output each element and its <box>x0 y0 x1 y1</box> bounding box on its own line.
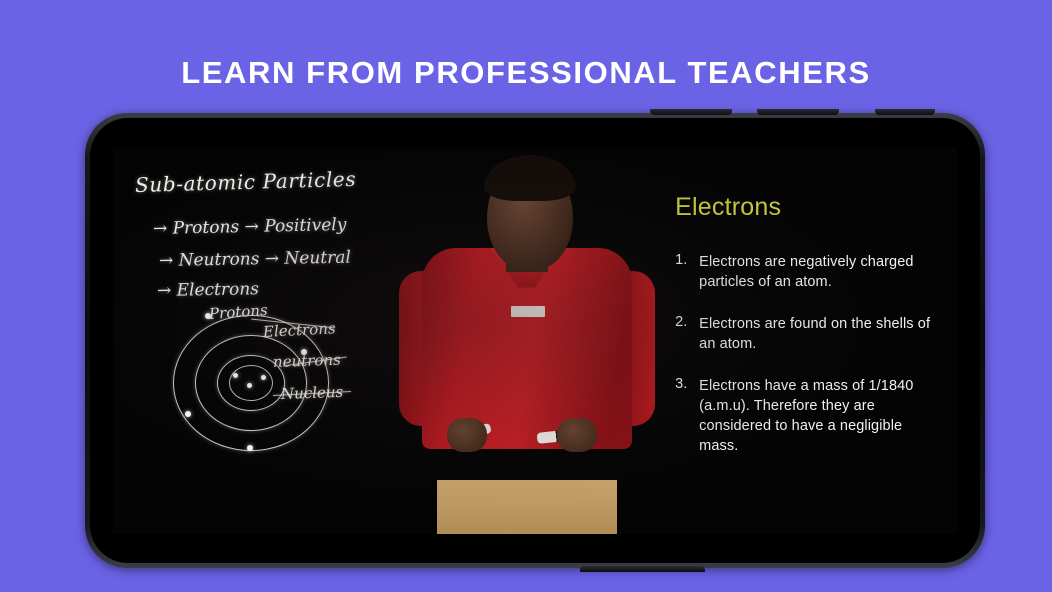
teacher-name-badge <box>511 306 545 317</box>
side-button[interactable] <box>875 109 935 115</box>
whiteboard-line-3: → Electrons <box>157 279 259 301</box>
label-nucleus: Nucleus <box>281 383 344 403</box>
bullet-number: 1. <box>675 252 699 292</box>
list-item: 2. Electrons are found on the shells of … <box>675 314 931 354</box>
bullet-text: Electrons are negatively charged particl… <box>699 252 931 292</box>
lesson-slide: Electrons 1. Electrons are negatively ch… <box>653 147 957 534</box>
teacher-trousers <box>437 480 617 534</box>
bullet-text: Electrons are found on the shells of an … <box>699 314 931 354</box>
slide-bullet-list: 1. Electrons are negatively charged part… <box>675 252 931 456</box>
volume-down-button[interactable] <box>757 109 839 115</box>
bullet-number: 2. <box>675 314 699 354</box>
page-headline: LEARN FROM PROFESSIONAL TEACHERS <box>0 54 1052 92</box>
teacher-left-hand <box>447 418 487 452</box>
phone-bezel: Sub-atomic Particles → Protons → Positiv… <box>90 118 980 563</box>
label-neutrons: neutrons <box>273 351 341 371</box>
phone-device: Sub-atomic Particles → Protons → Positiv… <box>85 113 985 568</box>
teacher-figure <box>400 147 653 534</box>
whiteboard-line-1: → Protons → Positively <box>153 215 347 239</box>
phone-screen[interactable]: Sub-atomic Particles → Protons → Positiv… <box>99 125 971 556</box>
power-button[interactable] <box>580 566 705 572</box>
teacher-hair <box>484 155 576 201</box>
bullet-text: Electrons have a mass of 1/1840 (a.m.u).… <box>699 376 931 456</box>
volume-up-button[interactable] <box>650 109 732 115</box>
bullet-number: 3. <box>675 376 699 456</box>
nucleon-dot <box>247 383 252 388</box>
nucleon-dot <box>233 373 238 378</box>
whiteboard-line-2: → Neutrons → Neutral <box>159 248 351 271</box>
list-item: 3. Electrons have a mass of 1/1840 (a.m.… <box>675 376 931 456</box>
electron-dot <box>185 411 191 417</box>
video-player[interactable]: Sub-atomic Particles → Protons → Positiv… <box>113 147 957 534</box>
electron-dot <box>247 445 253 451</box>
teacher-right-hand <box>557 418 597 452</box>
list-item: 1. Electrons are negatively charged part… <box>675 252 931 292</box>
label-electrons: Electrons <box>263 319 336 341</box>
nucleon-dot <box>261 375 266 380</box>
whiteboard-title: Sub-atomic Particles <box>135 167 357 197</box>
slide-title: Electrons <box>675 193 931 222</box>
